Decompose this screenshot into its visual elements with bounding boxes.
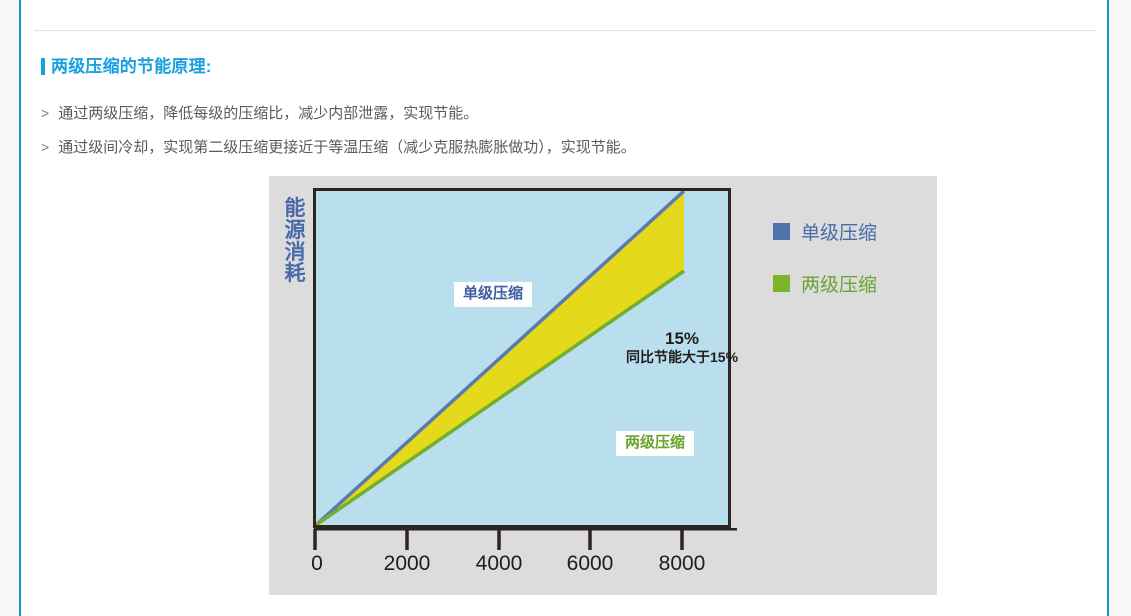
chevron-right-icon: > xyxy=(41,105,49,121)
savings-detail: 同比节能大于15% xyxy=(626,349,738,365)
savings-annotation: 15% 同比节能大于15% xyxy=(626,329,738,365)
two-stage-line xyxy=(316,271,684,525)
list-item-text: 通过级间冷却，实现第二级压缩更接近于等温压缩（减少克服热膨胀做功），实现节能。 xyxy=(58,136,636,157)
heading-accent-bar xyxy=(41,58,45,75)
chart-legend: 单级压缩 两级压缩 xyxy=(773,218,877,322)
list-item: > 通过级间冷却，实现第二级压缩更接近于等温压缩（减少克服热膨胀做功），实现节能… xyxy=(41,136,636,157)
x-tick-label: 4000 xyxy=(476,552,523,576)
right-blue-rule xyxy=(1107,0,1109,616)
section-heading: 两级压缩的节能原理: xyxy=(41,58,212,75)
legend-item-two-stage: 两级压缩 xyxy=(773,270,877,297)
legend-item-single-stage: 单级压缩 xyxy=(773,218,877,245)
legend-label: 单级压缩 xyxy=(801,218,877,245)
chart-x-axis: 0 2000 4000 6000 8000 xyxy=(313,528,737,588)
chart-plot-area: 单级压缩 15% 同比节能大于15% 两级压缩 xyxy=(313,188,731,528)
legend-swatch-icon xyxy=(773,275,790,292)
x-tick-label: 2000 xyxy=(384,552,431,576)
x-tick-label: 6000 xyxy=(567,552,614,576)
chevron-right-icon: > xyxy=(41,139,49,155)
content-area: 两级压缩的节能原理: > 通过两级压缩，降低每级的压缩比，减少内部泄露，实现节能… xyxy=(21,0,1107,616)
two-stage-inline-label: 两级压缩 xyxy=(616,431,694,456)
legend-label: 两级压缩 xyxy=(801,270,877,297)
energy-comparison-chart: 能源消耗 单级压缩 15% 同比节能大于15% 两级压缩 xyxy=(269,176,937,595)
savings-headline: 15% xyxy=(626,329,738,349)
single-stage-inline-label: 单级压缩 xyxy=(454,282,532,307)
legend-swatch-icon xyxy=(773,223,790,240)
x-tick-label: 0 xyxy=(311,552,323,576)
top-dotted-divider xyxy=(35,30,1095,31)
list-item: > 通过两级压缩，降低每级的压缩比，减少内部泄露，实现节能。 xyxy=(41,102,478,123)
x-axis-ticks-svg xyxy=(313,528,737,554)
x-tick-label: 8000 xyxy=(659,552,706,576)
list-item-text: 通过两级压缩，降低每级的压缩比，减少内部泄露，实现节能。 xyxy=(58,102,478,123)
chart-y-axis-label: 能源消耗 xyxy=(281,198,309,285)
left-gutter-strip xyxy=(0,0,19,616)
heading-text: 两级压缩的节能原理: xyxy=(51,58,212,75)
right-gutter-strip xyxy=(1109,0,1131,616)
page-root: 两级压缩的节能原理: > 通过两级压缩，降低每级的压缩比，减少内部泄露，实现节能… xyxy=(0,0,1131,616)
